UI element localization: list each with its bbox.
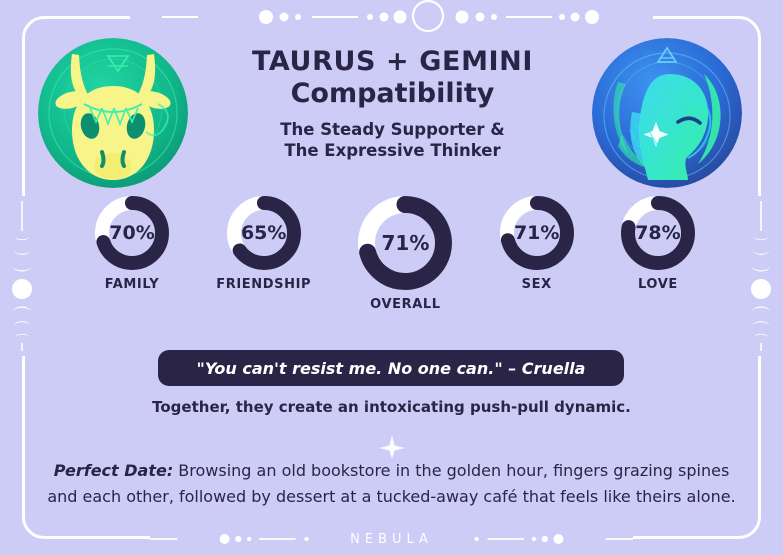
gauge-label-friendship: FRIENDSHIP [216,277,311,292]
moon-phase-divider-bottom-right-icon [442,529,633,549]
zodiac-circle-gemini [592,38,742,188]
taurus-illustration [38,38,188,188]
gauge-label-love: LOVE [638,277,678,292]
page-title-line1: TAURUS + GEMINI [195,46,590,78]
footer-brand: NEBULA [341,532,442,547]
right-side-ornament [739,196,783,356]
poster-header: TAURUS + GEMINI Compatibility The Steady… [195,46,590,162]
gauge-friendship: 65%FRIENDSHIP [216,196,311,292]
page-subtitle: The Steady Supporter & The Expressive Th… [195,119,590,163]
quote-banner: "You can't resist me. No one can." – Cru… [158,350,624,386]
page-title-line2: Compatibility [195,78,590,110]
left-side-ornament [0,196,44,356]
perfect-date-label: Perfect Date: [54,461,174,480]
gauge-label-sex: SEX [522,277,552,292]
gauge-ring-friendship: 65% [227,196,301,270]
bottom-ornament-divider: NEBULA [150,523,633,555]
gauge-ring-family: 70% [95,196,169,270]
gemini-illustration [592,38,742,188]
tagline: Together, they create an intoxicating pu… [0,398,783,416]
moon-phase-divider-bottom-left-icon [150,529,341,549]
gauge-label-family: FAMILY [105,277,160,292]
gauge-value-friendship: 65% [227,196,301,270]
gauge-value-love: 78% [621,196,695,270]
gauge-value-overall: 71% [358,196,452,290]
gauge-ring-sex: 71% [500,196,574,270]
moon-phase-column-right-icon [741,201,781,351]
subtitle-line1: The Steady Supporter & [195,119,590,141]
gauge-label-overall: OVERALL [370,297,440,312]
top-ornament-divider [130,0,653,34]
gauge-value-sex: 71% [500,196,574,270]
gauge-value-family: 70% [95,196,169,270]
gauge-love: 78%LOVE [621,196,695,292]
subtitle-line2: The Expressive Thinker [195,140,590,162]
gauge-sex: 71%SEX [500,196,574,292]
gauge-family: 70%FAMILY [95,196,169,292]
gauge-overall: 71%OVERALL [358,196,452,312]
compatibility-gauges: 70%FAMILY65%FRIENDSHIP71%OVERALL71%SEX78… [95,196,695,328]
perfect-date-paragraph: Perfect Date: Browsing an old bookstore … [40,458,743,510]
infographic-poster: TAURUS + GEMINI Compatibility The Steady… [0,0,783,555]
gauge-ring-overall: 71% [358,196,452,290]
zodiac-circle-taurus [38,38,188,188]
moon-phase-column-left-icon [2,201,42,351]
gauge-ring-love: 78% [621,196,695,270]
moon-phase-divider-top-icon [162,0,622,34]
